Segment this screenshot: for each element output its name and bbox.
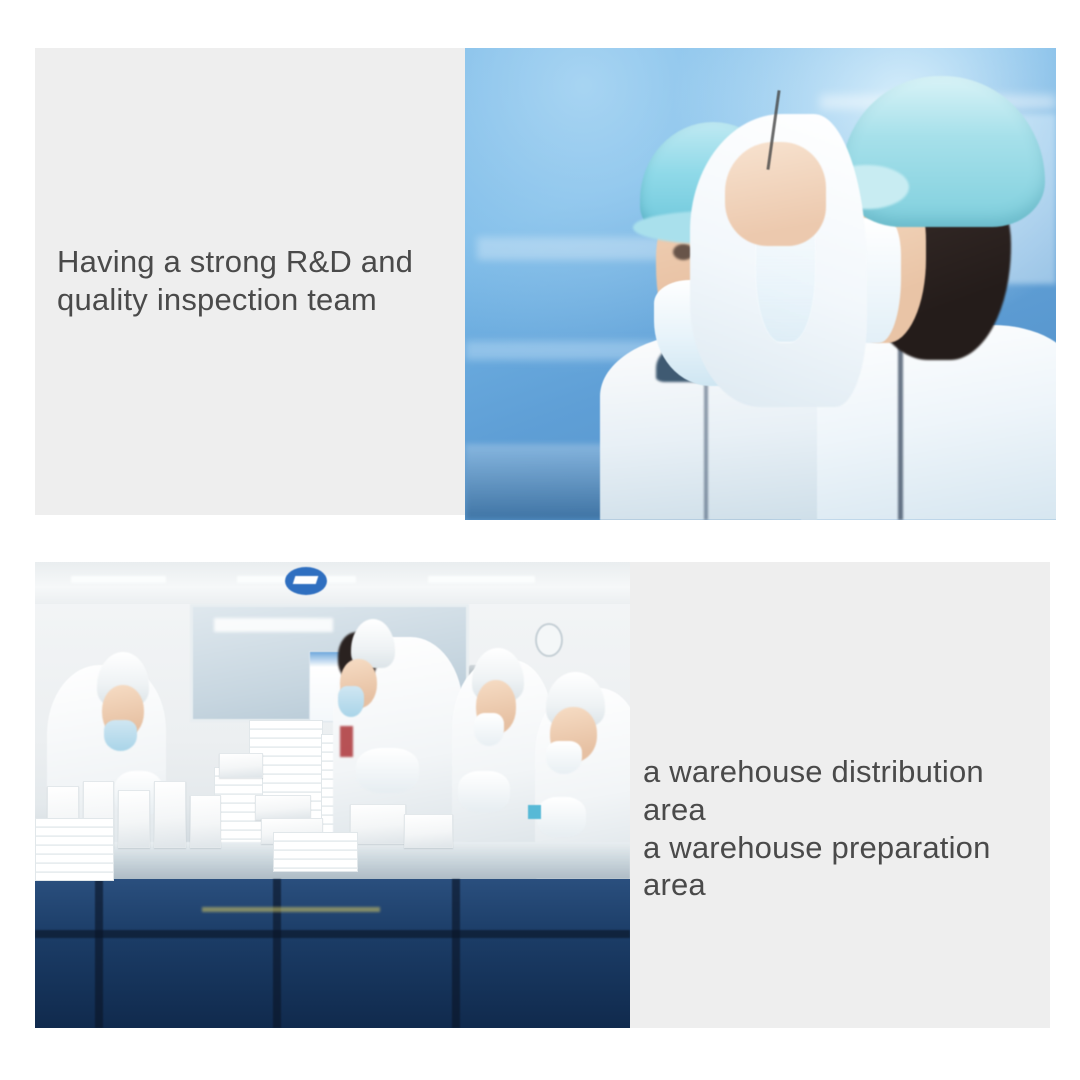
table-under-area [35,879,630,1028]
packing-worker-4-mask [546,741,582,774]
carton-4 [154,781,186,848]
table-leg-2 [273,879,281,1028]
packing-worker-1-mask [104,720,137,751]
carton-3 [118,790,150,848]
lab-background [465,48,1056,520]
table-rail [35,930,630,937]
lab-team-photo [465,48,1056,520]
bottom-caption-text: a warehouse distribution area a warehous… [643,753,1048,904]
packing-worker-2-red-item [340,726,353,757]
carton-flat-4 [404,814,454,849]
table-leg-1 [95,879,103,1028]
carton-flat-3 [350,804,406,843]
top-caption-text: Having a strong R&D and quality inspecti… [57,243,457,319]
ceiling-light-3 [428,576,535,583]
lab-gloved-hand [725,142,825,246]
floor-marking [202,907,381,913]
wall-clock [535,623,563,657]
warehouse-packing-photo [35,562,630,1028]
packing-worker-2-mask [338,686,364,717]
window-glare [214,618,333,632]
packing-worker-3-mask [474,713,504,746]
carton-5 [190,795,222,848]
table-leg-3 [452,879,460,1028]
packing-worker-4-teal-tool [528,805,541,819]
lab-worker-right-coat-seam [898,343,903,520]
packing-worker-4-arm [537,797,586,836]
packing-worker-3-arm [458,771,511,812]
carton-flat-5 [219,753,263,778]
packing-worker-2-arm [356,748,419,793]
carton-flat-1 [255,795,311,820]
packing-room-background [35,562,630,1028]
carton-stack-front-mid [273,832,358,871]
wall-logo-sign [285,567,327,595]
carton-stack-front-left [35,818,114,881]
ceiling-light-1 [71,576,166,583]
